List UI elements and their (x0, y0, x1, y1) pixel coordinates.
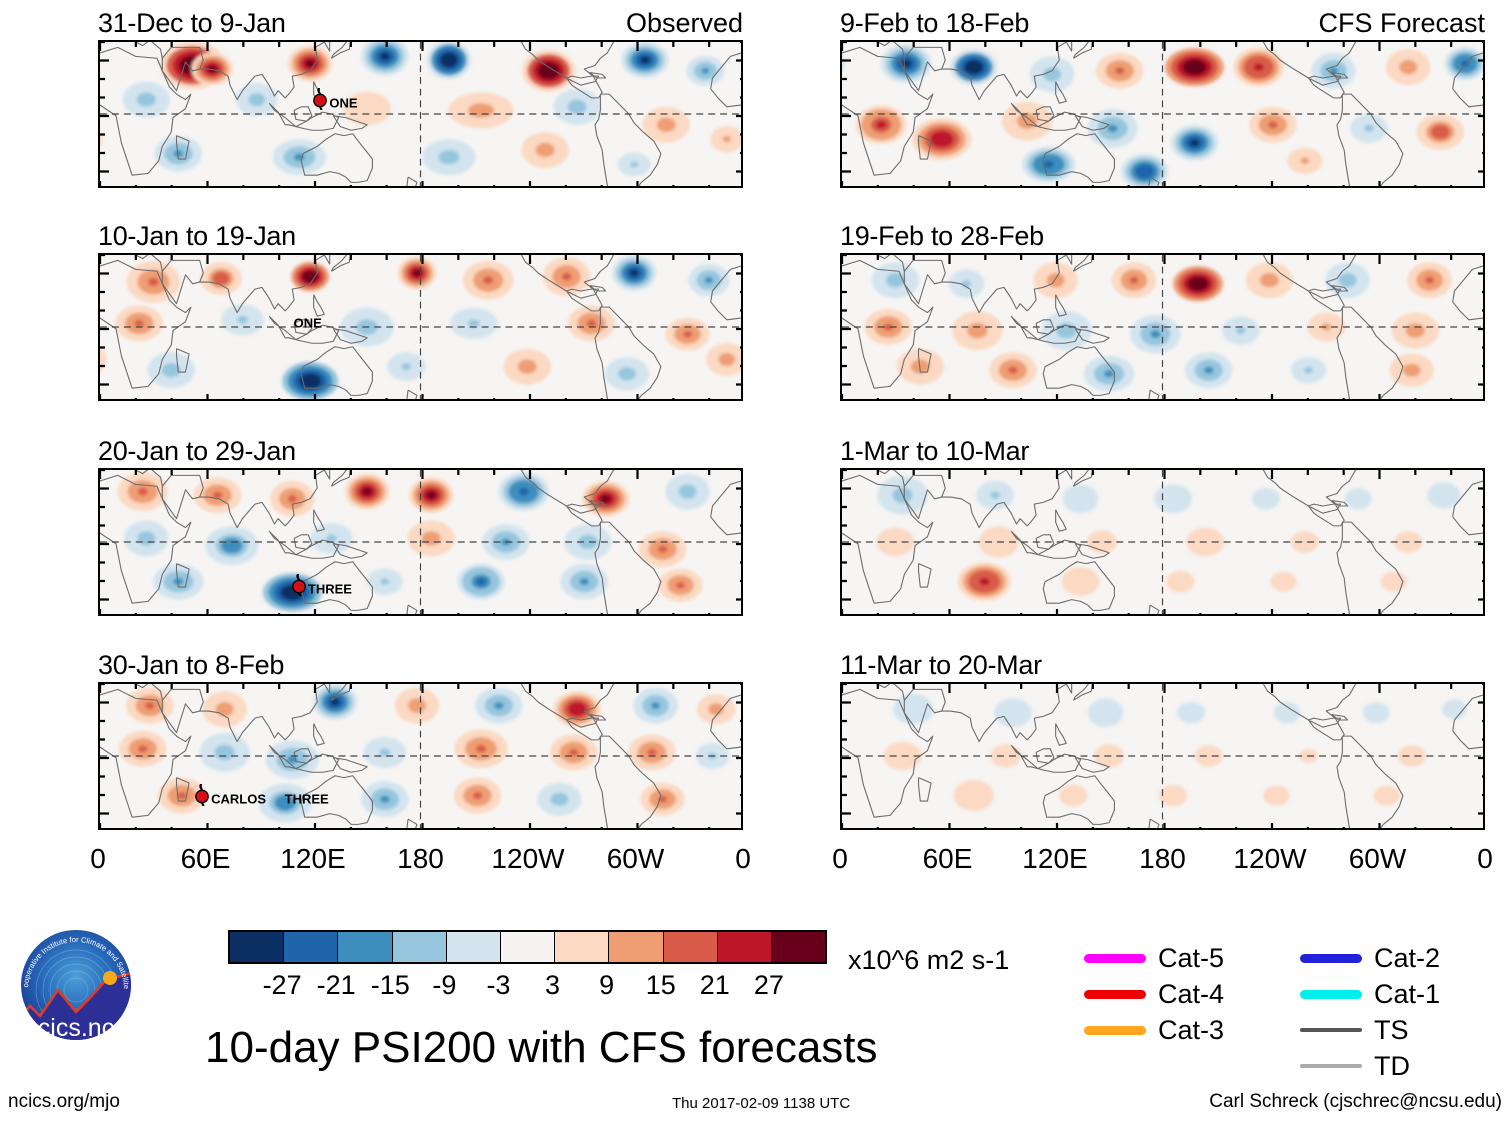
anomaly-map (100, 42, 741, 186)
map-obs-4[interactable]: CARLOSTHREE30N030S (98, 682, 743, 830)
colorbar-segment-5 (501, 932, 555, 962)
x-tick-label: 180 (1139, 845, 1186, 873)
colorbar-tick-label: 21 (700, 972, 730, 999)
colorbar-segment-4 (447, 932, 501, 962)
legend-item-cat-5: Cat-5 (1084, 940, 1224, 976)
colorbar-segment-2 (338, 932, 392, 962)
storm-marker-three[interactable] (288, 574, 310, 596)
panel-title: 11-Mar to 20-Mar (840, 650, 1042, 680)
storm-marker-one[interactable] (309, 88, 331, 110)
legend-column-left: Cat-5Cat-4Cat-3 (1084, 940, 1224, 1048)
footer-left[interactable]: ncics.org/mjo (8, 1092, 120, 1112)
colorbar-segment-0 (230, 932, 284, 962)
legend-swatch-cat-2 (1300, 954, 1362, 963)
panel-title: 31-Dec to 9-Jan (98, 8, 286, 38)
map-cfs-3[interactable] (840, 468, 1485, 616)
anomaly-map (842, 470, 1483, 614)
storm-label-one: ONE (329, 97, 357, 110)
legend-column-right: Cat-2Cat-1TSTD (1300, 940, 1440, 1084)
legend-label: Cat-1 (1374, 981, 1440, 1008)
legend-swatch-td (1300, 1064, 1362, 1068)
x-tick-label: 120W (1233, 845, 1306, 873)
anomaly-map (842, 255, 1483, 399)
legend-label: TD (1374, 1053, 1410, 1080)
colorbar-units-label: x10^6 m2 s-1 (848, 947, 1009, 974)
legend-swatch-cat-4 (1084, 990, 1146, 999)
colorbar-segment-9 (718, 932, 772, 962)
legend-label: Cat-3 (1158, 1017, 1224, 1044)
colorbar-tick-label: -15 (371, 972, 410, 999)
x-tick-label: 0 (1477, 845, 1493, 873)
legend-label: Cat-5 (1158, 945, 1224, 972)
colorbar-segment-10 (772, 932, 825, 962)
x-tick-label: 60W (1349, 845, 1407, 873)
colorbar-tick-label: -21 (317, 972, 356, 999)
x-axis-right: 060E120E180120W60W0 (840, 845, 1485, 879)
panel-title: 1-Mar to 10-Mar (840, 436, 1029, 466)
colorbar-tick-label: 9 (599, 972, 614, 999)
logo-wordmark: cics.nc (38, 1014, 114, 1042)
colorbar-tick-label: -9 (432, 972, 456, 999)
anomaly-map (100, 470, 741, 614)
legend-item-cat-1: Cat-1 (1300, 976, 1440, 1012)
legend-item-ts: TS (1300, 1012, 1440, 1048)
legend-swatch-cat-3 (1084, 1026, 1146, 1035)
cics-nc-logo: Cooperative Institute for Climate and Sa… (14, 928, 138, 1048)
legend-swatch-ts (1300, 1028, 1362, 1032)
storm-marker-carlos[interactable] (191, 784, 213, 806)
map-obs-2[interactable]: ONE30N030S (98, 253, 743, 401)
colorbar-tick-label: 15 (646, 972, 676, 999)
map-cfs-1[interactable] (840, 40, 1485, 188)
panel-title: 9-Feb to 18-Feb (840, 8, 1029, 38)
anomaly-map (842, 684, 1483, 828)
legend-item-cat-3: Cat-3 (1084, 1012, 1224, 1048)
x-tick-label: 120E (1022, 845, 1087, 873)
legend-label: TS (1374, 1017, 1409, 1044)
colorbar: -27-21-15-9-339152127 (228, 930, 828, 1010)
x-tick-label: 0 (735, 845, 751, 873)
panel-title: 20-Jan to 29-Jan (98, 436, 296, 466)
map-obs-1[interactable]: ONE30N030S (98, 40, 743, 188)
colorbar-tick-label: -3 (486, 972, 510, 999)
x-tick-label: 180 (397, 845, 444, 873)
column-header-left: Observed (626, 8, 743, 38)
colorbar-tick-label: -27 (263, 972, 302, 999)
legend-item-td: TD (1300, 1048, 1440, 1084)
legend-swatch-cat-5 (1084, 954, 1146, 963)
legend-item-cat-2: Cat-2 (1300, 940, 1440, 976)
colorbar-strip (228, 930, 827, 964)
footer-center: Thu 2017-02-09 1138 UTC (672, 1094, 850, 1114)
panel-title: 10-Jan to 19-Jan (98, 221, 296, 251)
colorbar-segment-1 (284, 932, 338, 962)
map-cfs-4[interactable] (840, 682, 1485, 830)
colorbar-segment-8 (664, 932, 718, 962)
anomaly-map (842, 42, 1483, 186)
footer-right[interactable]: Carl Schreck (cjschrec@ncsu.edu) (1209, 1092, 1502, 1112)
colorbar-tick-label: 3 (545, 972, 560, 999)
storm-label-three: THREE (308, 582, 352, 595)
legend-label: Cat-4 (1158, 981, 1224, 1008)
x-axis-left: 060E120E180120W60W0 (98, 845, 743, 879)
column-header-right: CFS Forecast (1318, 8, 1485, 38)
storm-label-three: THREE (285, 792, 329, 805)
figure-title: 10-day PSI200 with CFS forecasts (205, 1024, 878, 1072)
x-tick-label: 60E (923, 845, 973, 873)
panel-title: 30-Jan to 8-Feb (98, 650, 284, 680)
x-tick-label: 60E (181, 845, 231, 873)
storm-label-carlos: CARLOS (211, 793, 266, 806)
map-obs-3[interactable]: THREE30N030S (98, 468, 743, 616)
x-tick-label: 120E (280, 845, 345, 873)
x-tick-label: 60W (607, 845, 665, 873)
colorbar-segment-7 (609, 932, 663, 962)
colorbar-segment-3 (393, 932, 447, 962)
map-cfs-2[interactable] (840, 253, 1485, 401)
legend-swatch-cat-1 (1300, 990, 1362, 999)
legend-label: Cat-2 (1374, 945, 1440, 972)
x-tick-label: 0 (832, 845, 848, 873)
storm-label-one: ONE (294, 317, 322, 330)
anomaly-map (100, 684, 741, 828)
anomaly-map (100, 255, 741, 399)
colorbar-tick-label: 27 (754, 972, 784, 999)
colorbar-segment-6 (555, 932, 609, 962)
x-tick-label: 120W (491, 845, 564, 873)
panel-title: 19-Feb to 28-Feb (840, 221, 1044, 251)
x-tick-label: 0 (90, 845, 106, 873)
legend-item-cat-4: Cat-4 (1084, 976, 1224, 1012)
